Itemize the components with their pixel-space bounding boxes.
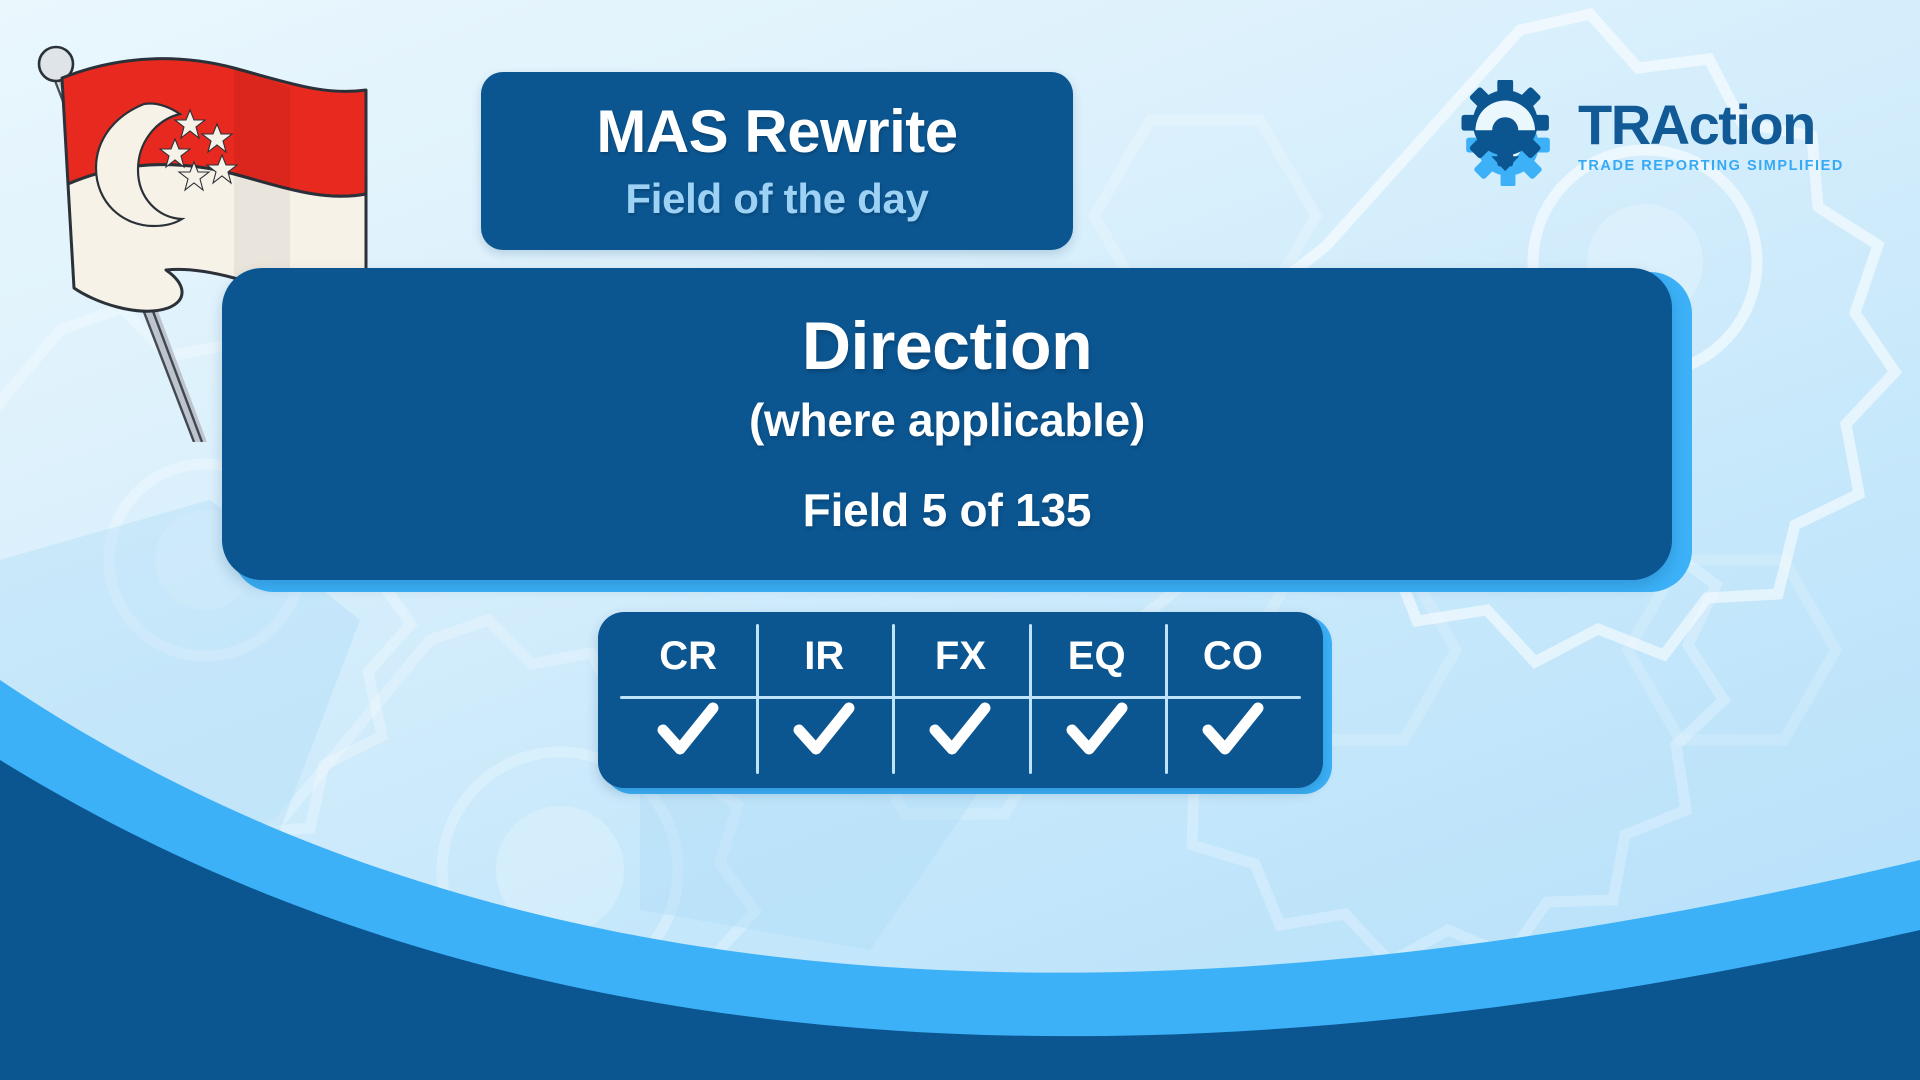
checkmark-icon xyxy=(1202,702,1264,758)
column-divider xyxy=(1029,678,1032,774)
asset-header-label: CO xyxy=(1203,634,1263,679)
logo-tagline: TRADE REPORTING SIMPLIFIED xyxy=(1578,158,1844,174)
asset-value-fx xyxy=(892,684,1028,770)
page-title: MAS Rewrite xyxy=(596,100,957,163)
asset-value-co xyxy=(1165,684,1301,770)
field-card: Direction (where applicable) Field 5 of … xyxy=(222,268,1672,580)
checkmark-icon xyxy=(929,702,991,758)
asset-class-table: CR IR FX EQ CO xyxy=(598,612,1323,788)
column-divider xyxy=(756,678,759,774)
checkmark-icon xyxy=(793,702,855,758)
poster-canvas: MAS Rewrite Field of the day xyxy=(0,0,1920,1080)
checkmark-icon xyxy=(1066,702,1128,758)
traction-logo[interactable]: TRAction TRADE REPORTING SIMPLIFIED xyxy=(1452,78,1872,188)
asset-header-label: CR xyxy=(659,634,717,679)
asset-header-label: IR xyxy=(804,634,844,679)
asset-value-eq xyxy=(1029,684,1165,770)
page-subtitle: Field of the day xyxy=(625,175,928,223)
asset-value-ir xyxy=(756,684,892,770)
header-banner: MAS Rewrite Field of the day xyxy=(481,72,1073,250)
checkmark-icon xyxy=(657,702,719,758)
gear-arrow-logo-icon xyxy=(1452,80,1564,186)
asset-header-label: FX xyxy=(935,634,986,679)
asset-header-ir: IR xyxy=(756,628,892,684)
field-index: Field 5 of 135 xyxy=(803,483,1092,537)
field-name: Direction xyxy=(802,311,1092,382)
logo-wordmark: TRAction xyxy=(1578,97,1815,153)
asset-header-fx: FX xyxy=(892,628,1028,684)
column-divider xyxy=(1165,678,1168,774)
asset-header-co: CO xyxy=(1165,628,1301,684)
asset-header-label: EQ xyxy=(1068,634,1126,679)
asset-header-cr: CR xyxy=(620,628,756,684)
field-note: (where applicable) xyxy=(749,393,1145,447)
column-divider xyxy=(892,678,895,774)
asset-value-cr xyxy=(620,684,756,770)
asset-header-eq: EQ xyxy=(1029,628,1165,684)
